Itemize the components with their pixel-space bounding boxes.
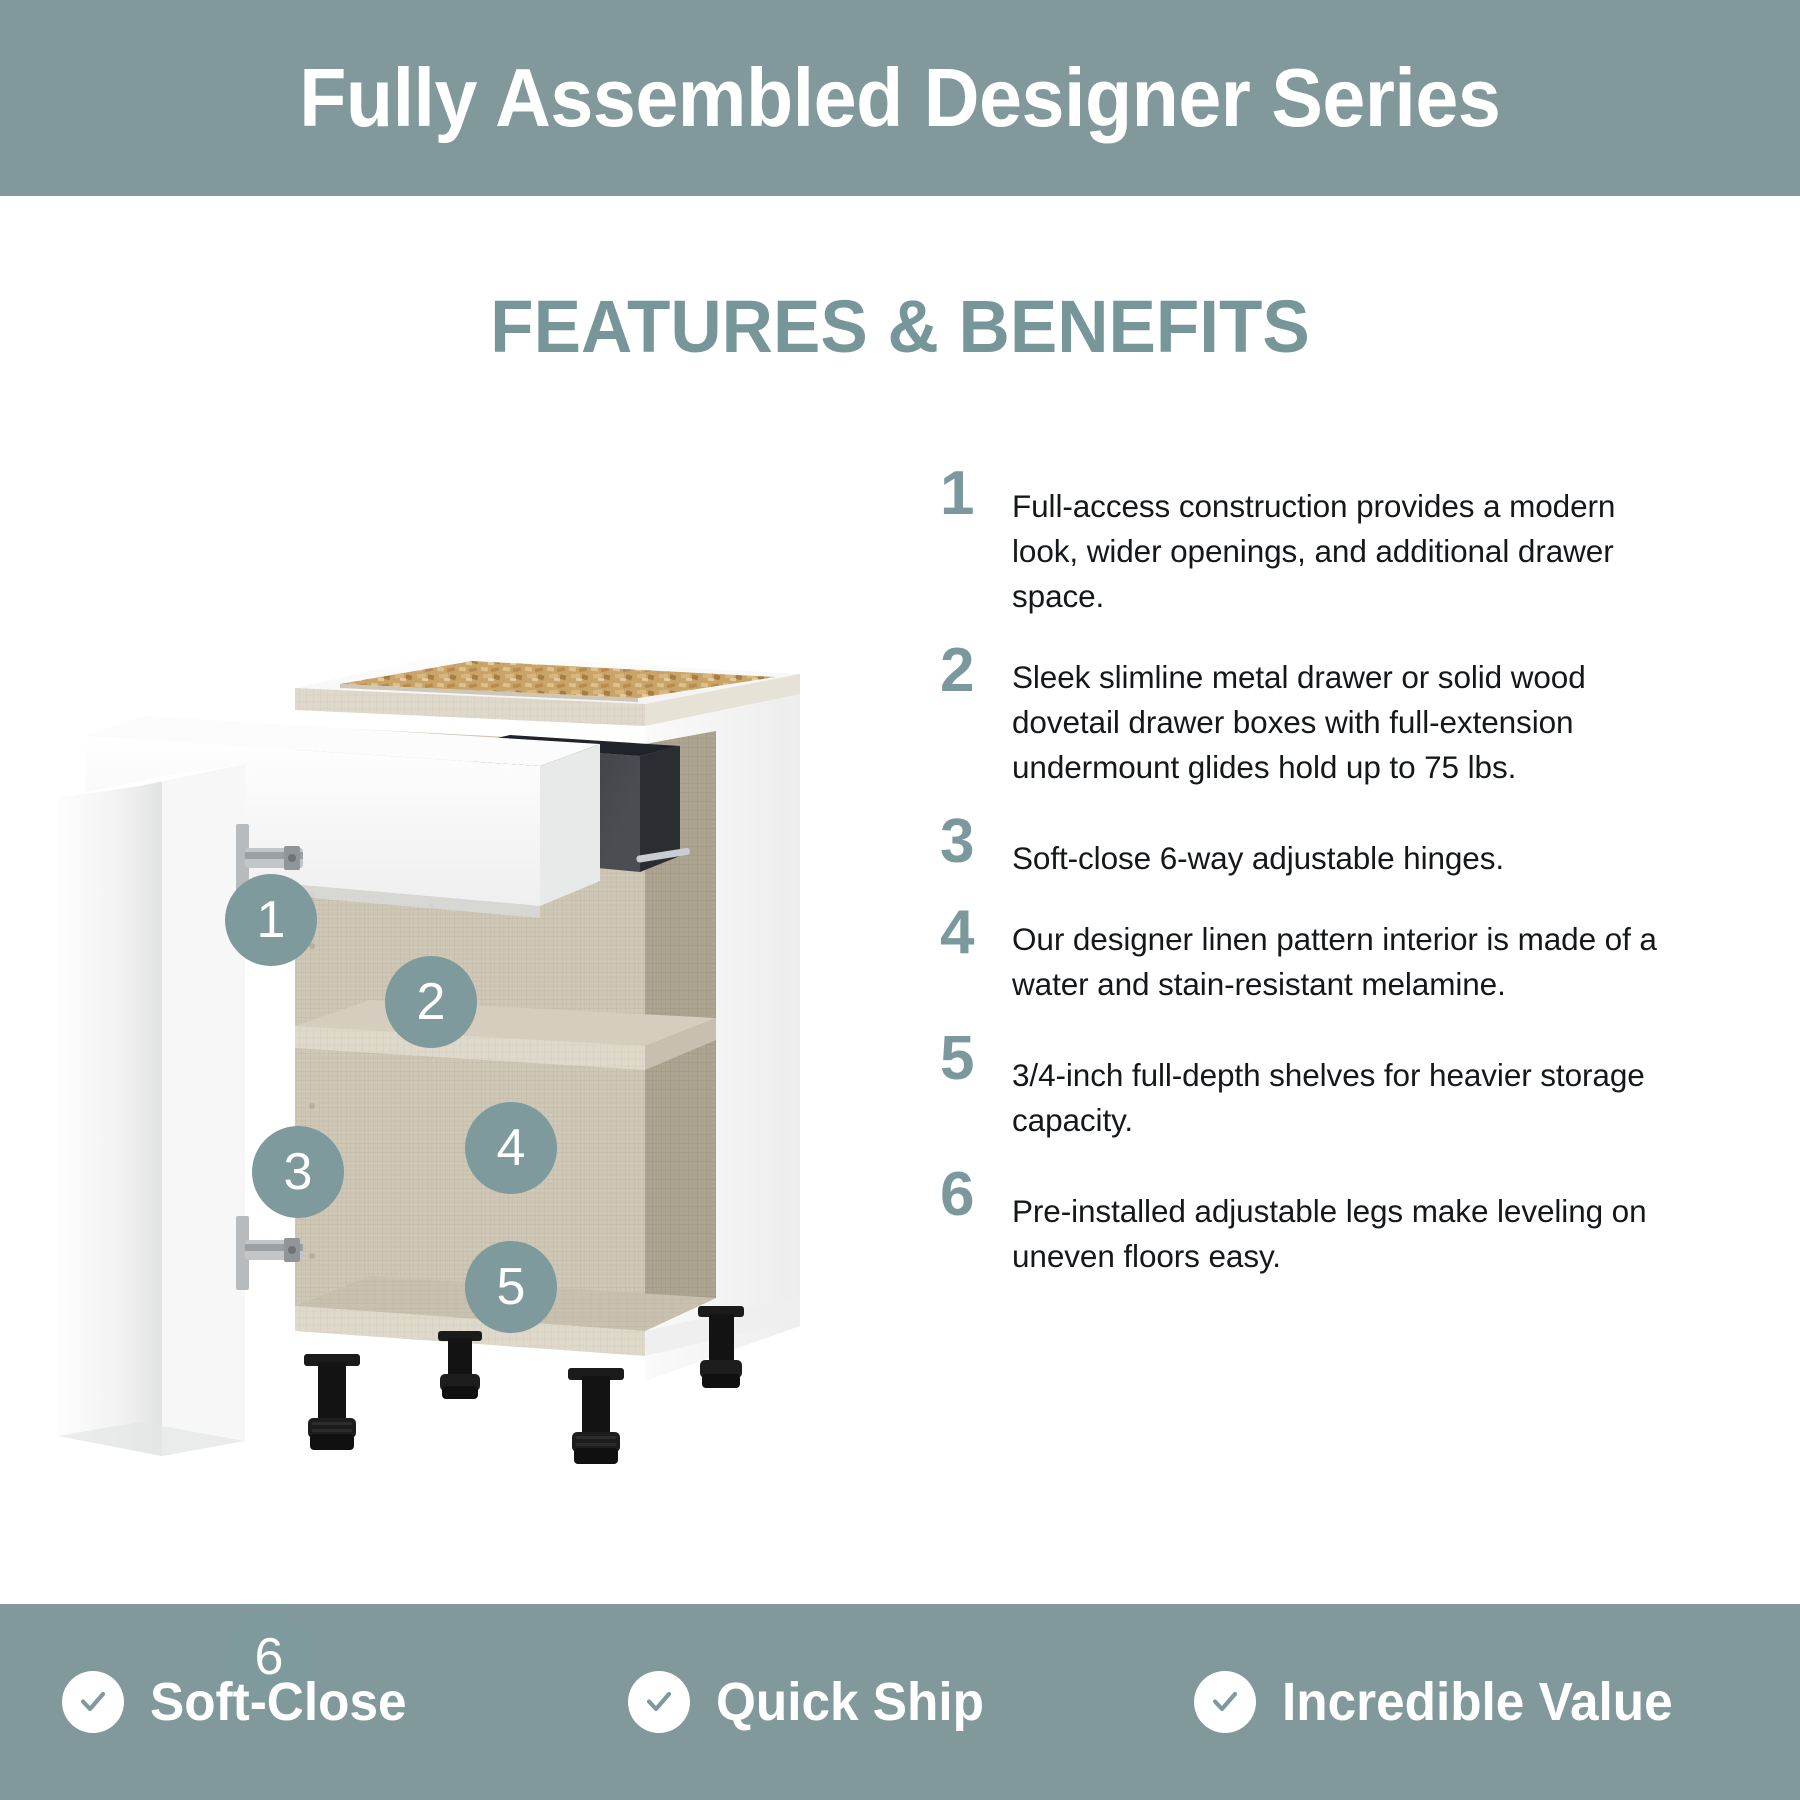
feature-text-3: Soft-close 6-way adjustable hinges.	[1012, 812, 1660, 881]
callout-badge-4: 4	[465, 1102, 557, 1194]
adjustable-leg-front-left	[304, 1354, 360, 1450]
callout-badge-5: 5	[465, 1241, 557, 1333]
feature-item-1: 1 Full-access construction provides a mo…	[940, 464, 1660, 619]
soft-close-hinge-lower	[236, 1216, 303, 1290]
footer-badge-incredible-value: Incredible Value	[1172, 1671, 1738, 1733]
feature-item-2: 2 Sleek slimline metal drawer or solid w…	[940, 641, 1660, 790]
main-content: FEATURES & BENEFITS	[0, 196, 1800, 1604]
feature-item-3: 3 Soft-close 6-way adjustable hinges.	[940, 812, 1660, 881]
feature-item-5: 5 3/4-inch full-depth shelves for heavie…	[940, 1029, 1660, 1143]
feature-number-5: 5	[940, 1029, 1012, 1087]
callout-badge-2: 2	[385, 956, 477, 1048]
callout-badge-1: 1	[225, 874, 317, 966]
feature-text-6: Pre-installed adjustable legs make level…	[1012, 1165, 1660, 1279]
feature-item-6: 6 Pre-installed adjustable legs make lev…	[940, 1165, 1660, 1279]
feature-item-4: 4 Our designer linen pattern interior is…	[940, 903, 1660, 1007]
check-icon	[62, 1671, 124, 1733]
check-icon	[1194, 1671, 1256, 1733]
cabinet-illustration: 1 2 3 4 5 6	[40, 426, 900, 1486]
adjustable-leg-front-right	[568, 1368, 624, 1464]
check-icon	[628, 1671, 690, 1733]
page-title: Fully Assembled Designer Series	[299, 50, 1500, 146]
cabinet-door-inner-face	[162, 764, 245, 1456]
footer-badge-soft-close: Soft-Close	[62, 1671, 606, 1733]
footer-badge-label-3: Incredible Value	[1282, 1671, 1673, 1733]
callout-badge-3: 3	[252, 1126, 344, 1218]
feature-number-1: 1	[940, 464, 1012, 522]
feature-text-1: Full-access construction provides a mode…	[1012, 464, 1660, 619]
feature-number-3: 3	[940, 812, 1012, 870]
footer-badge-quick-ship: Quick Ship	[606, 1671, 1172, 1733]
cabinet-door-outer-face	[58, 776, 162, 1456]
header-bar: Fully Assembled Designer Series	[0, 0, 1800, 196]
infographic-page: Fully Assembled Designer Series FEATURES…	[0, 0, 1800, 1800]
feature-list: 1 Full-access construction provides a mo…	[940, 464, 1660, 1301]
feature-number-2: 2	[940, 641, 1012, 699]
footer-badge-label-1: Soft-Close	[150, 1671, 407, 1733]
feature-text-2: Sleek slimline metal drawer or solid woo…	[1012, 641, 1660, 790]
section-heading: FEATURES & BENEFITS	[36, 284, 1764, 369]
footer-badge-label-2: Quick Ship	[716, 1671, 984, 1733]
feature-text-4: Our designer linen pattern interior is m…	[1012, 903, 1660, 1007]
feature-text-5: 3/4-inch full-depth shelves for heavier …	[1012, 1029, 1660, 1143]
feature-number-4: 4	[940, 903, 1012, 961]
feature-number-6: 6	[940, 1165, 1012, 1223]
